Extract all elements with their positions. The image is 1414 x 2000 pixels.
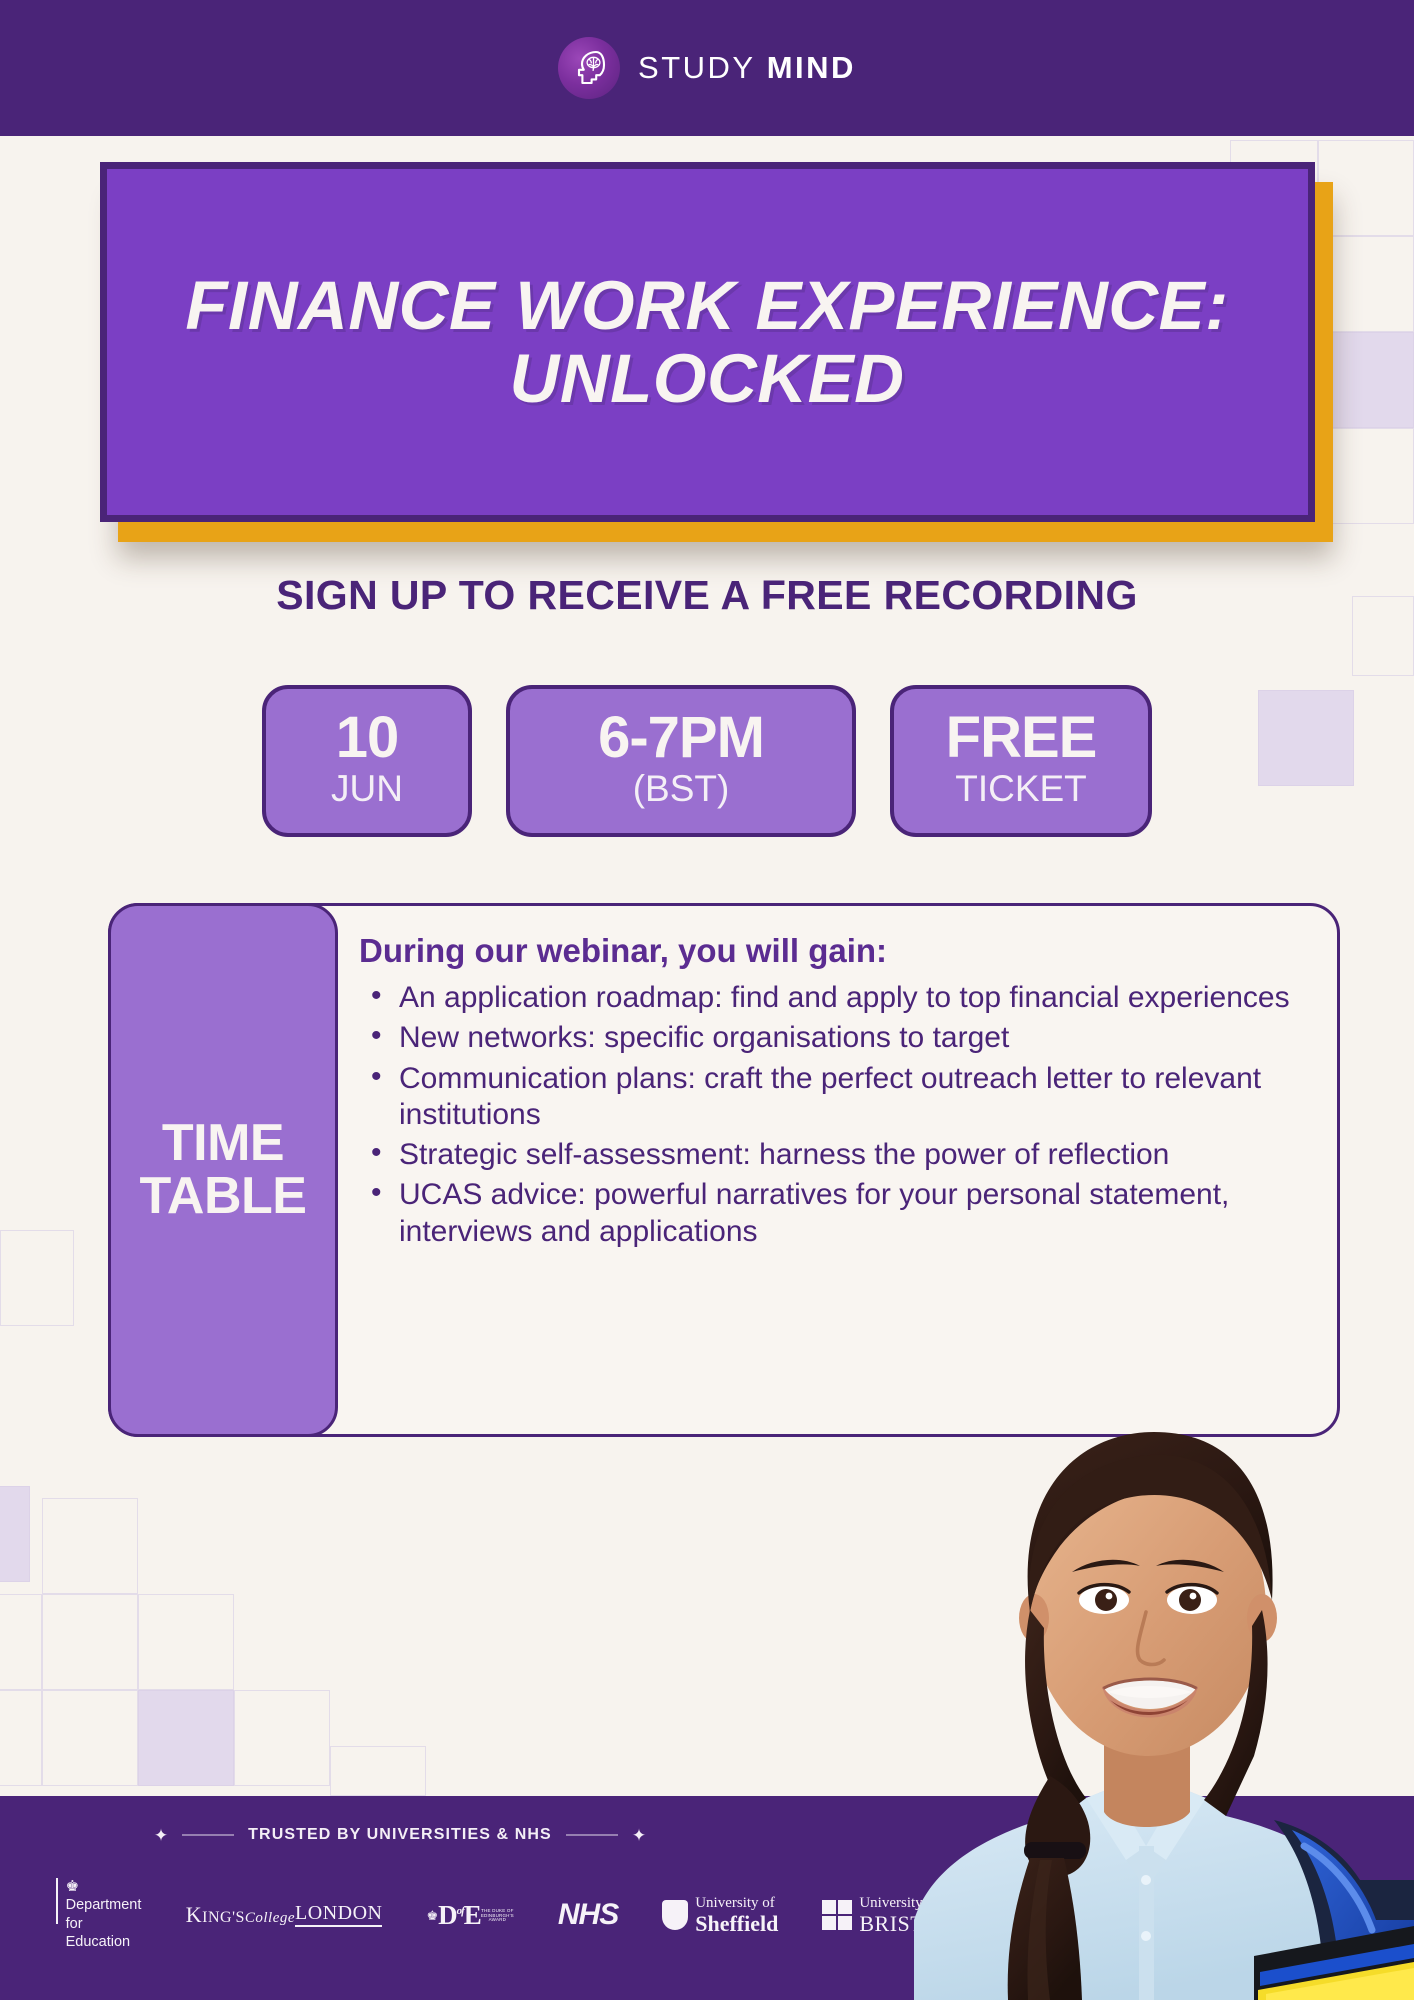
badge-date-month: JUN <box>331 769 403 810</box>
list-item: Communication plans: craft the perfect o… <box>359 1061 1317 1134</box>
kcl-k: K <box>186 1902 202 1927</box>
deco-square <box>42 1594 138 1690</box>
divider-line <box>182 1834 234 1836</box>
deco-square <box>42 1498 138 1594</box>
deco-square <box>138 1690 234 1786</box>
logo[interactable]: STUDY MIND <box>558 37 856 99</box>
logo-nhs: NHS <box>558 1898 618 1932</box>
badge-price[interactable]: FREE TICKET <box>890 685 1152 837</box>
brand-name-bold: MIND <box>767 50 856 85</box>
list-item: New networks: specific organisations to … <box>359 1020 1317 1056</box>
sheffield-name: University of Sheffield <box>695 1895 778 1936</box>
list-item: An application roadmap: find and apply t… <box>359 980 1317 1016</box>
badge-time[interactable]: 6-7PM (BST) <box>506 685 856 837</box>
dofe-of: of <box>457 1905 464 1917</box>
deco-square <box>0 1690 42 1786</box>
list-item: Strategic self-assessment: harness the p… <box>359 1137 1317 1173</box>
sheffield-line1: University of <box>695 1895 775 1911</box>
bristol-crest-icon <box>822 1900 852 1930</box>
timetable-bullet-list: An application roadmap: find and apply t… <box>359 980 1317 1250</box>
deco-square <box>330 1746 426 1796</box>
logo-kings-college-london: KING'SCollege LONDON <box>186 1903 383 1927</box>
event-badges: 10 JUN 6-7PM (BST) FREE TICKET <box>0 685 1414 837</box>
page-title: FINANCE WORK EXPERIENCE: UNLOCKED <box>107 269 1308 415</box>
brand-name: STUDY MIND <box>638 50 856 86</box>
sheffield-shield-icon <box>662 1900 688 1930</box>
deco-square <box>0 1230 74 1326</box>
timetable-content: During our webinar, you will gain: An ap… <box>359 932 1317 1254</box>
brain-head-icon <box>558 37 620 99</box>
deco-square <box>42 1690 138 1786</box>
dofe-mark: DofE <box>438 1902 481 1929</box>
royal-crest-icon: ♚ <box>66 1878 79 1895</box>
hero-section: FINANCE WORK EXPERIENCE: UNLOCKED <box>0 136 1414 522</box>
dfe-line2: for Education <box>66 1916 131 1951</box>
logo-divider <box>56 1878 58 1924</box>
deco-square <box>0 1594 42 1690</box>
timetable-tab-label: TIMETABLE <box>140 1117 307 1223</box>
deco-square <box>0 1486 30 1582</box>
badge-date-value: 10 <box>336 709 399 767</box>
hero-subtitle: SIGN UP TO RECEIVE A FREE RECORDING <box>0 572 1414 619</box>
kcl-line1: KING'SCollege <box>186 1904 295 1926</box>
badge-time-zone: (BST) <box>633 769 730 810</box>
sparkle-icon: ✦ <box>632 1827 646 1844</box>
trusted-label: TRUSTED BY UNIVERSITIES & NHS <box>248 1826 552 1844</box>
badge-price-value: FREE <box>946 709 1097 767</box>
dofe-tiny-text: THE DUKE OF EDINBURGH'S AWARD <box>481 1909 514 1923</box>
badge-time-value: 6-7PM <box>598 709 764 767</box>
hero-title-card: FINANCE WORK EXPERIENCE: UNLOCKED <box>100 162 1315 522</box>
deco-square <box>138 1594 234 1690</box>
partner-logos: ♚ Department for Education KING'SCollege… <box>56 1878 776 1952</box>
timetable-panel: TIMETABLE During our webinar, you will g… <box>108 903 1340 1437</box>
dofe-crown-icon: ♚ <box>426 1909 438 1922</box>
badge-price-label: TICKET <box>955 769 1087 810</box>
trusted-banner: ✦ TRUSTED BY UNIVERSITIES & NHS ✦ <box>0 1826 800 1844</box>
divider-line <box>566 1834 618 1836</box>
brand-name-light: STUDY <box>638 50 756 85</box>
deco-square <box>234 1690 330 1786</box>
brand-header: STUDY MIND <box>0 0 1414 136</box>
kcl-london: LONDON <box>295 1903 382 1927</box>
logo-department-for-education: ♚ Department for Education <box>56 1878 142 1952</box>
dfe-name: Department for Education <box>66 1897 142 1950</box>
timetable-heading: During our webinar, you will gain: <box>359 932 1317 970</box>
logo-duke-of-edinburgh: ♚ DofE THE DUKE OF EDINBURGH'S AWARD <box>426 1902 513 1929</box>
hero-title-box: FINANCE WORK EXPERIENCE: UNLOCKED <box>100 162 1315 522</box>
list-item: UCAS advice: powerful narratives for you… <box>359 1177 1317 1250</box>
badge-date[interactable]: 10 JUN <box>262 685 472 837</box>
kcl-ings: ING'S <box>202 1909 245 1926</box>
sheffield-line2: Sheffield <box>695 1911 778 1936</box>
dfe-line1: Department <box>66 1897 142 1913</box>
timetable-tab: TIMETABLE <box>108 903 338 1437</box>
sparkle-icon: ✦ <box>154 1827 168 1844</box>
timetable-tab-line2: TABLE <box>140 1167 307 1225</box>
logo-university-of-sheffield: University of Sheffield <box>662 1895 778 1936</box>
timetable-tab-line1: TIME <box>162 1114 284 1172</box>
kcl-college: College <box>245 1910 295 1926</box>
student-photo <box>854 1360 1414 2000</box>
